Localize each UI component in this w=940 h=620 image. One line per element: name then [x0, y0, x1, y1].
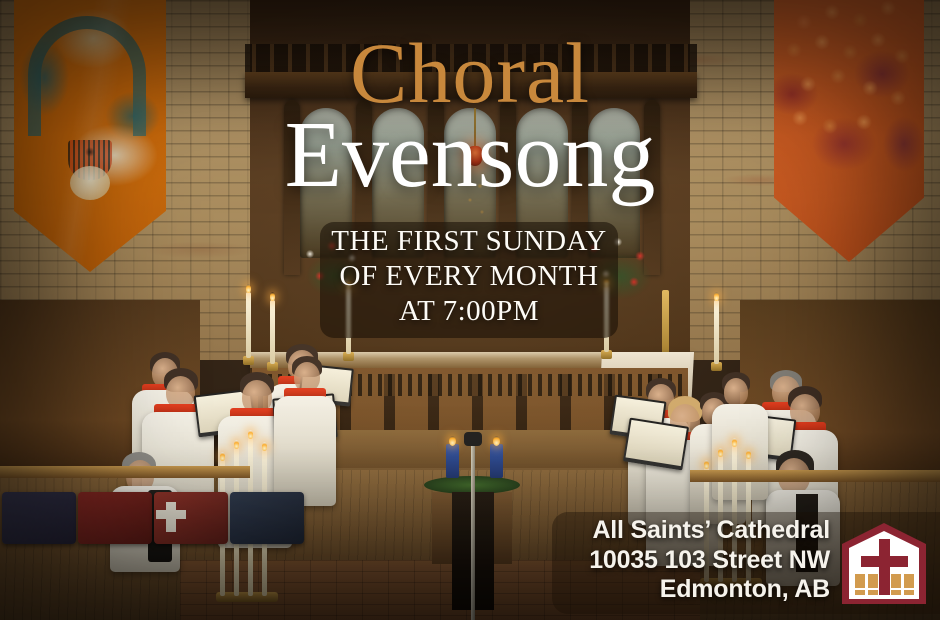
venue-name: All Saints’ Cathedral [540, 516, 830, 546]
schedule-line-3: AT 7:00PM [320, 294, 618, 329]
venue-city: Edmonton, AB [540, 575, 830, 605]
logo-window-4 [904, 574, 914, 595]
candle-flame-1 [246, 284, 251, 293]
kneeler-4 [230, 492, 304, 544]
candelabra-left-flame-1 [220, 452, 225, 461]
logo-window-2-mullion [868, 588, 878, 590]
altar-candle-5 [714, 300, 719, 364]
communion-rail-right [690, 470, 940, 482]
logo-cross-horizontal [861, 556, 908, 567]
altar-candle-2 [270, 300, 275, 364]
candelabra-right-flame-4 [746, 450, 751, 459]
kneeler-cross-motif-bar [156, 510, 186, 519]
candle-flame-2 [270, 292, 275, 301]
venue-street: 10035 103 Street NW [540, 546, 830, 576]
church-logo-icon [838, 520, 930, 608]
logo-window-2 [868, 574, 878, 595]
choral-evensong-poster: Choral Evensong THE FIRST SUNDAY OF EVER… [0, 0, 940, 620]
candle-flame-5 [714, 292, 719, 301]
candelabra-right-flame-1 [704, 460, 709, 469]
cathedral-logo [838, 520, 930, 608]
schedule-line-2: OF EVERY MONTH [320, 259, 618, 294]
candelabra-right-flame-3 [732, 438, 737, 447]
altar-candle-1 [246, 292, 251, 358]
microphone-stand [471, 440, 475, 620]
communion-rail-left [0, 466, 250, 478]
microphone-icon [464, 432, 482, 446]
page-title-evensong: Evensong [0, 108, 940, 202]
logo-window-3 [891, 574, 901, 595]
kneeler-1 [2, 492, 76, 544]
candelabra-left-flame-4 [262, 442, 267, 451]
candelabra-left-base [216, 592, 278, 602]
logo-window-3-mullion [891, 588, 901, 590]
kneeler-2 [78, 492, 152, 544]
candelabra-right-flame-2 [718, 448, 723, 457]
logo-window-4-mullion [904, 588, 914, 590]
advent-candle-blue-2 [490, 444, 503, 478]
schedule-line-1: THE FIRST SUNDAY [320, 224, 618, 259]
advent-candle-blue-1 [446, 444, 459, 478]
logo-window-1 [855, 574, 865, 595]
candelabra-left-flame-3 [248, 430, 253, 439]
altar-cross [662, 290, 669, 360]
schedule-text: THE FIRST SUNDAY OF EVERY MONTH AT 7:00P… [320, 224, 618, 329]
candelabra-left-flame-2 [234, 440, 239, 449]
venue-address-block: All Saints’ Cathedral 10035 103 Street N… [540, 516, 830, 605]
logo-window-1-mullion [855, 588, 865, 590]
